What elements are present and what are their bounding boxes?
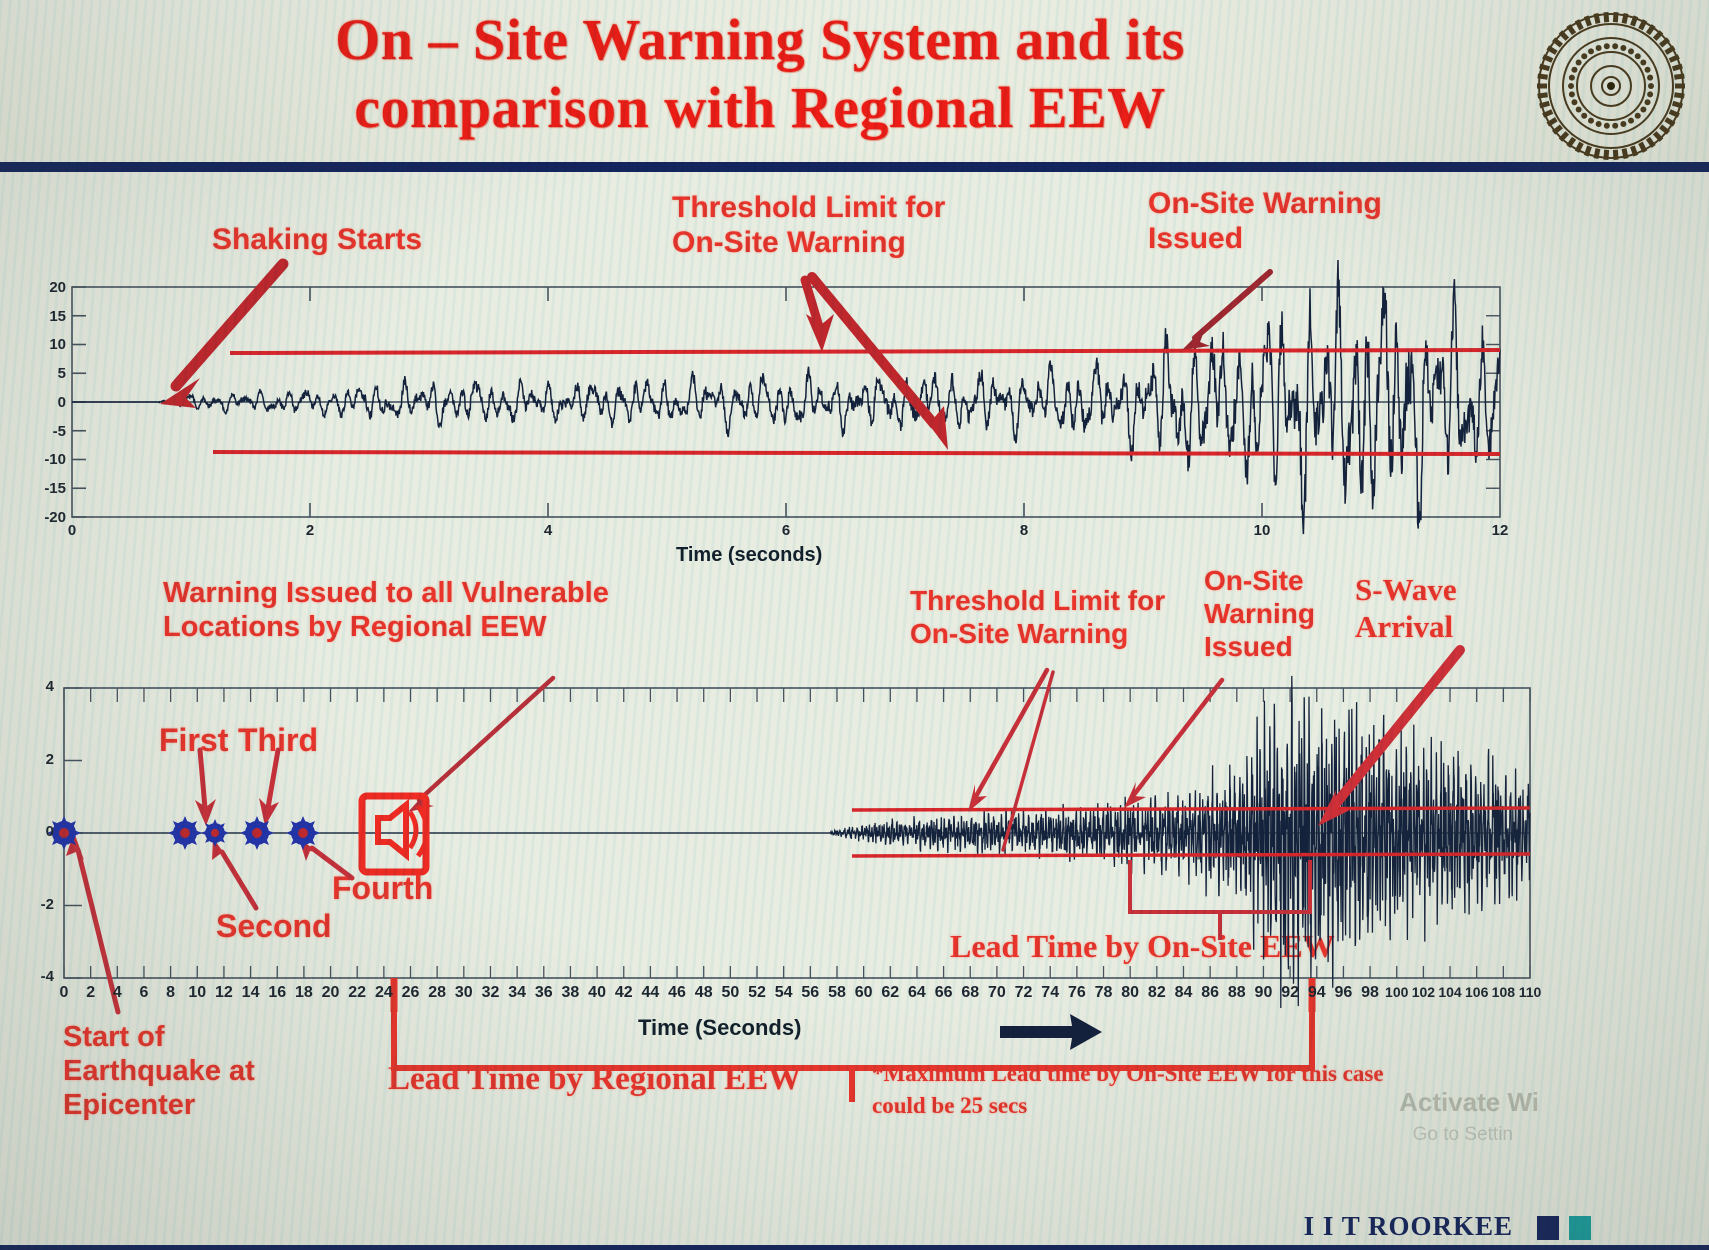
- title-line-1: On – Site Warning System and its: [150, 6, 1370, 74]
- star-marker-second: [201, 819, 229, 847]
- y-tick-label: -2: [18, 896, 54, 913]
- star-marker-third: [240, 816, 274, 850]
- bottom-chart: Warning Issued to all Vulnerable Locatio…: [0, 560, 1709, 1250]
- arrow-onsite-warning-issued: [1124, 680, 1222, 808]
- seismic-trace: [64, 676, 1530, 1008]
- bracket-lead-time-regional: [394, 1008, 1312, 1102]
- star-marker-first: [168, 816, 202, 850]
- x-tick-label: 8: [1004, 522, 1044, 539]
- y-tick-label: -15: [20, 480, 66, 497]
- threshold-line-negative: [213, 452, 1500, 454]
- x-tick-label: 4: [528, 522, 568, 539]
- footer-institute-name: I I T ROORKEE: [1304, 1211, 1513, 1242]
- y-tick-label: 20: [20, 279, 66, 296]
- y-tick-label: 5: [20, 365, 66, 382]
- x-tick-label: 110: [1508, 984, 1552, 1000]
- y-tick-label: -10: [20, 451, 66, 468]
- footer-square-teal: [1569, 1216, 1591, 1240]
- x-tick-label: 6: [766, 522, 806, 539]
- x-tick-label: 10: [1242, 522, 1282, 539]
- broadcast-warning-icon: [362, 796, 427, 872]
- threshold-line-negative: [852, 854, 1530, 856]
- slide-header: On – Site Warning System and its compari…: [0, 0, 1709, 172]
- y-tick-label: 10: [20, 336, 66, 353]
- seismic-trace: [72, 260, 1500, 534]
- footer-rule: [0, 1245, 1709, 1250]
- y-tick-label: 4: [18, 678, 54, 695]
- y-tick-label: 2: [18, 751, 54, 768]
- slide-canvas: On – Site Warning System and its compari…: [0, 0, 1709, 1250]
- y-tick-label: -4: [18, 968, 54, 985]
- x-tick-label: 2: [290, 522, 330, 539]
- arrow-onsite-warning: [1182, 272, 1270, 350]
- bottom-chart-plot: [0, 560, 1709, 1250]
- x-tick-label: 0: [52, 522, 92, 539]
- activate-windows-subtext: Go to Settin: [1413, 1124, 1513, 1146]
- title-line-2: comparison with Regional EEW: [150, 74, 1370, 142]
- iit-roorkee-emblem-icon: [1535, 10, 1687, 162]
- x-axis-title: Time (Seconds): [638, 1015, 801, 1041]
- y-tick-label: -5: [20, 423, 66, 440]
- arrow-first: [195, 750, 216, 826]
- star-marker-fourth: [286, 816, 320, 850]
- arrow-regional-warning: [408, 678, 553, 812]
- time-direction-arrow-icon: [1000, 1014, 1102, 1050]
- arrow-shaking-starts: [160, 264, 283, 408]
- y-tick-label: 15: [20, 308, 66, 325]
- arrow-third: [259, 750, 279, 826]
- threshold-line-positive: [852, 808, 1530, 810]
- page-title: On – Site Warning System and its compari…: [150, 6, 1370, 143]
- x-tick-label: 12: [1480, 522, 1520, 539]
- arrow-threshold-right: [812, 277, 948, 450]
- footer-square-navy: [1537, 1216, 1559, 1240]
- top-chart-plot: [0, 172, 1709, 592]
- top-chart: Shaking Starts Threshold Limit for On-Si…: [0, 172, 1709, 592]
- y-tick-label: 0: [18, 823, 54, 840]
- activate-windows-watermark: Activate Wi: [1399, 1087, 1539, 1118]
- y-tick-label: 0: [20, 394, 66, 411]
